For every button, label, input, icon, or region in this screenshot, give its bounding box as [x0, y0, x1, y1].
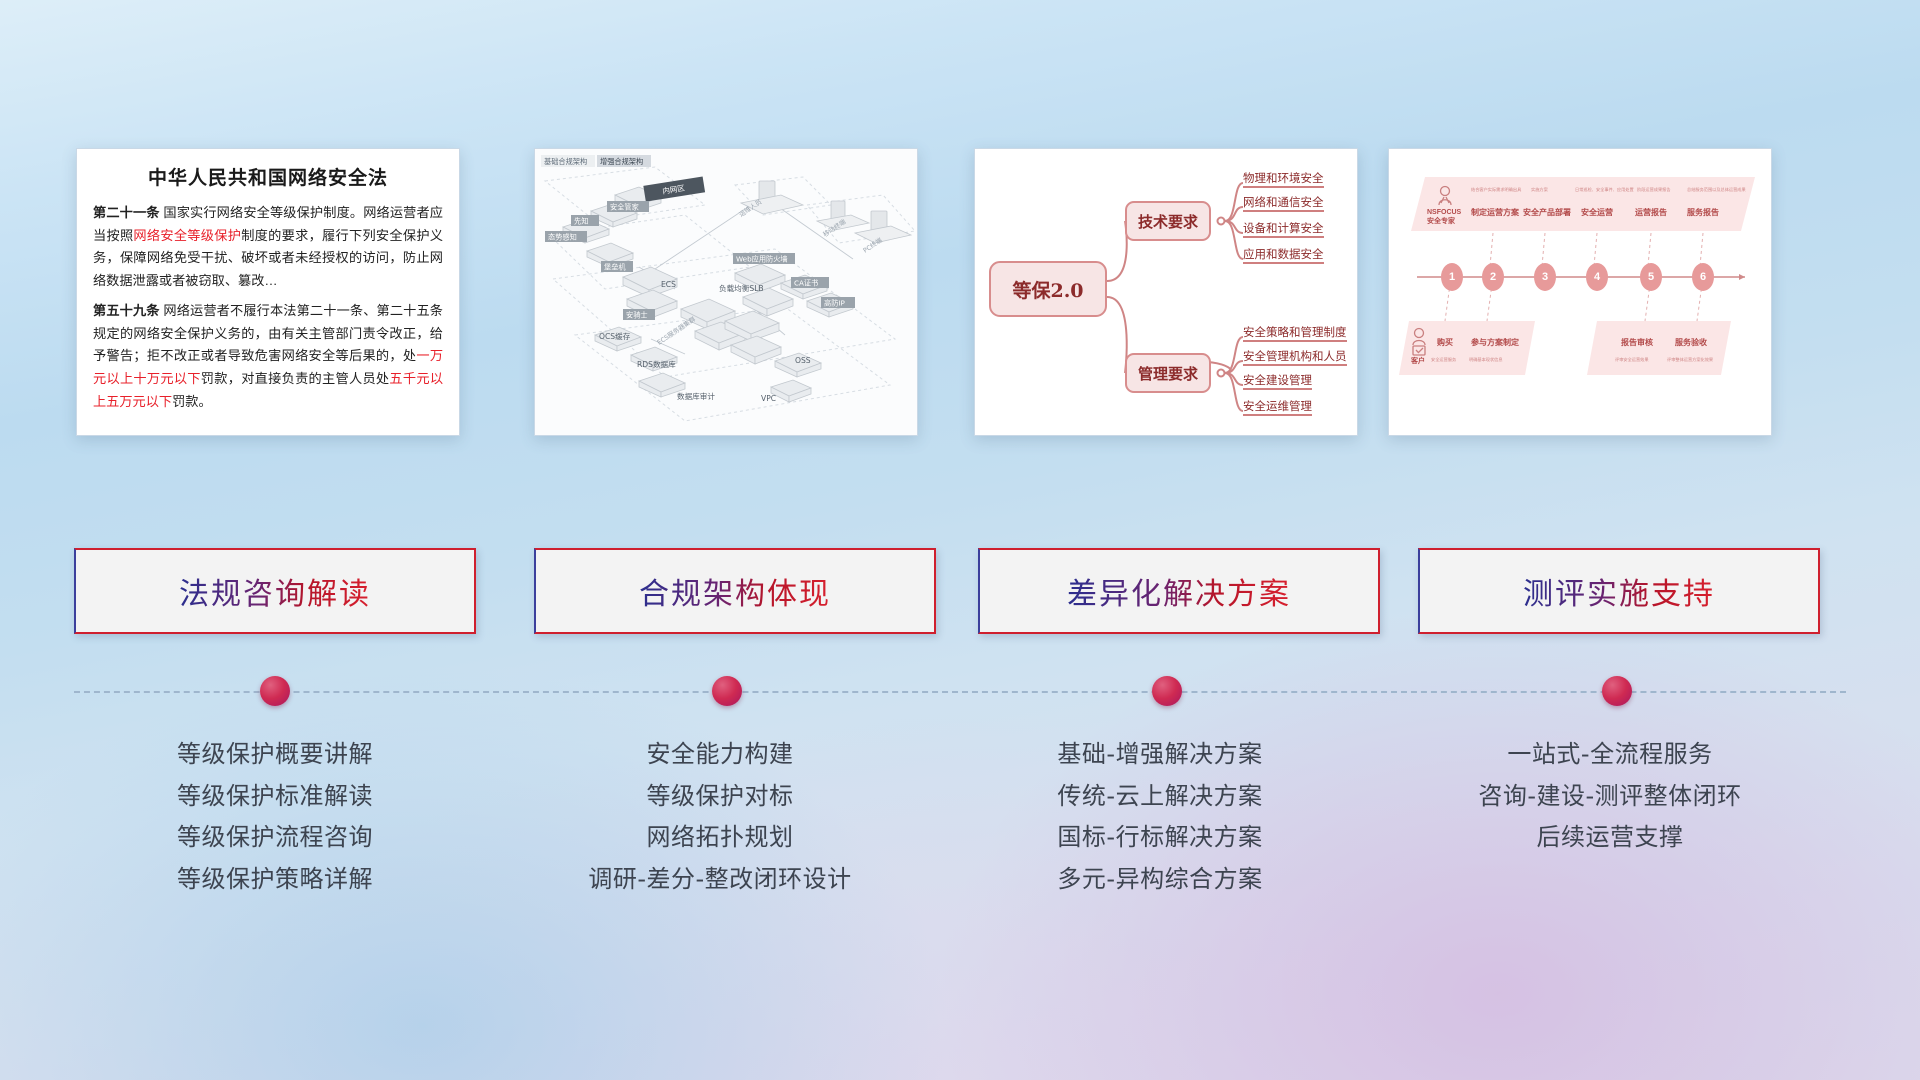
headline-box-4[interactable]: 测评实施支持	[1418, 548, 1820, 634]
nsfocus-top-title-2[interactable]: 安全产品部署	[1523, 207, 1571, 218]
detail-column-2: 安全能力构建 等级保护对标 网络拓扑规划 调研-差分-整改闭环设计	[505, 734, 935, 900]
nsfocus-step-number-5[interactable]: 5	[1640, 263, 1662, 291]
headline-label-4: 测评实施支持	[1523, 569, 1715, 613]
headline-label-2: 合规架构体现	[639, 569, 831, 613]
nsfocus-top-sub-4: 阶段运营成果报告	[1637, 187, 1671, 193]
mindmap: 等保2.0 技术要求 管理要求 物理和环境安全 网络和通信安全 设备和计算安全 …	[975, 149, 1357, 435]
mindmap-leaf-tech-3[interactable]: 设备和计算安全	[1243, 221, 1324, 238]
card-mindmap-dengbao[interactable]: 等保2.0 技术要求 管理要求 物理和环境安全 网络和通信安全 设备和计算安全 …	[974, 148, 1358, 436]
svg-text:先知: 先知	[574, 217, 588, 226]
svg-text:高防IP: 高防IP	[824, 299, 845, 308]
detail-column-3: 基础-增强解决方案 传统-云上解决方案 国标-行标解决方案 多元-异构综合方案	[945, 734, 1375, 900]
nsfocus-step-number-2[interactable]: 2	[1482, 263, 1504, 291]
list-item: 等级保护策略详解	[60, 859, 490, 901]
list-item: 调研-差分-整改闭环设计	[505, 859, 935, 901]
nsfocus-step-number-4[interactable]: 4	[1586, 263, 1608, 291]
arch-label-ecs: ECS	[661, 280, 676, 289]
list-item: 等级保护标准解读	[60, 776, 490, 818]
svg-text:堡垒机: 堡垒机	[604, 263, 626, 272]
svg-text:CA证书: CA证书	[794, 279, 818, 288]
nsfocus-top-title-3[interactable]: 安全运营	[1581, 207, 1613, 218]
list-item: 国标-行标解决方案	[945, 817, 1375, 859]
law-article-21: 第二十一条 国家实行网络安全等级保护制度。网络运营者应当按照网络安全等级保护制度…	[93, 202, 443, 293]
svg-text:安骑士: 安骑士	[626, 311, 648, 320]
headline-row: 法规咨询解读 合规架构体现 差异化解决方案 测评实施支持	[0, 548, 1920, 640]
article-59-label: 第五十九条	[93, 303, 160, 318]
article-59-text-b: 罚款，对直接负责的主管人员处	[201, 371, 390, 386]
list-item: 网络拓扑规划	[505, 817, 935, 859]
list-item: 一站式-全流程服务	[1395, 734, 1825, 776]
list-item: 后续运营支撑	[1395, 817, 1825, 859]
nsfocus-top-sub-1: 结合客户实际需求明确出具	[1471, 187, 1521, 193]
law-title: 中华人民共和国网络安全法	[93, 163, 443, 190]
mindmap-leaf-mgmt-1[interactable]: 安全策略和管理制度	[1243, 325, 1347, 342]
arch-tab-enhanced: 增强合规架构	[600, 157, 643, 166]
card-cybersecurity-law[interactable]: 中华人民共和国网络安全法 第二十一条 国家实行网络安全等级保护制度。网络运营者应…	[76, 148, 460, 436]
law-body: 中华人民共和国网络安全法 第二十一条 国家实行网络安全等级保护制度。网络运营者应…	[77, 149, 459, 435]
svg-text:VPC: VPC	[761, 394, 776, 403]
mindmap-leaf-mgmt-2[interactable]: 安全管理机构和人员	[1243, 349, 1347, 366]
mindmap-leaf-tech-2[interactable]: 网络和通信安全	[1243, 195, 1324, 212]
svg-text:态势感知: 态势感知	[548, 233, 577, 242]
nsfocus-bottom-title-3[interactable]: 报告审核	[1621, 337, 1653, 348]
image-card-row: 中华人民共和国网络安全法 第二十一条 国家实行网络安全等级保护制度。网络运营者应…	[0, 148, 1920, 448]
nsfocus-top-title-5[interactable]: 服务报告	[1687, 207, 1719, 218]
nsfocus-top-sub-3: 日常巡检、安全事件、应用处置	[1575, 187, 1634, 193]
nsfocus-top-sub-5: 总结服务范围以及总体运营成果	[1687, 187, 1746, 193]
nsfocus-bottom-title-4[interactable]: 服务验收	[1675, 337, 1707, 348]
nsfocus-bottom-sub-4: 评审整体运营方案化效果	[1667, 357, 1713, 363]
list-item: 等级保护对标	[505, 776, 935, 818]
article-21-highlight: 网络安全等级保护	[133, 228, 241, 243]
nsfocus-step-number-1[interactable]: 1	[1441, 263, 1463, 291]
detail-column-4: 一站式-全流程服务 咨询-建设-测评整体闭环 后续运营支撑	[1395, 734, 1825, 859]
list-item: 安全能力构建	[505, 734, 935, 776]
architecture-svg: 基础合规架构 增强合规架构 内网区 安全管家 先知 态势感知 堡垒机 安骑	[535, 149, 918, 436]
nsfocus-top-band	[1411, 177, 1755, 231]
svg-text:安全管家: 安全管家	[610, 203, 639, 212]
timeline-node-2[interactable]	[712, 676, 742, 706]
card-cloud-architecture[interactable]: 基础合规架构 增强合规架构 内网区 安全管家 先知 态势感知 堡垒机 安骑	[534, 148, 918, 436]
timeline	[0, 662, 1920, 722]
arch-tab-basic: 基础合规架构	[544, 157, 587, 166]
mindmap-leaf-mgmt-4[interactable]: 安全运维管理	[1243, 399, 1312, 416]
headline-box-1[interactable]: 法规咨询解读	[74, 548, 476, 634]
svg-text:OCS缓存: OCS缓存	[599, 331, 631, 341]
list-item: 等级保护概要讲解	[60, 734, 490, 776]
nsfocus-bottom-sub-2: 明确基本现状信息	[1469, 357, 1503, 363]
headline-box-3[interactable]: 差异化解决方案	[978, 548, 1380, 634]
list-item: 传统-云上解决方案	[945, 776, 1375, 818]
mindmap-leaf-tech-1[interactable]: 物理和环境安全	[1243, 171, 1324, 188]
timeline-node-3[interactable]	[1152, 676, 1182, 706]
nsfocus-top-title-1[interactable]: 制定运营方案	[1471, 207, 1519, 218]
headline-label-1: 法规咨询解读	[179, 569, 371, 613]
nsfocus-top-sub-2: 实施方案	[1531, 187, 1548, 193]
detail-column-row: 等级保护概要讲解 等级保护标准解读 等级保护流程咨询 等级保护策略详解 安全能力…	[0, 734, 1920, 974]
nsfocus-step-number-3[interactable]: 3	[1534, 263, 1556, 291]
timeline-dashed-line	[74, 691, 1846, 693]
list-item: 咨询-建设-测评整体闭环	[1395, 776, 1825, 818]
nsfocus-role-expert: NSFOCUS安全专家	[1427, 209, 1461, 226]
nsfocus-bottom-title-2[interactable]: 参与方案制定	[1471, 337, 1519, 348]
article-59-text-c: 罚款。	[172, 394, 212, 409]
headline-label-3: 差异化解决方案	[1067, 569, 1291, 613]
article-21-label: 第二十一条	[93, 205, 160, 220]
svg-text:Web应用防火墙: Web应用防火墙	[736, 255, 788, 264]
architecture-diagram: 基础合规架构 增强合规架构 内网区 安全管家 先知 态势感知 堡垒机 安骑	[535, 149, 917, 435]
card-nsfocus-service-flow[interactable]: 1 2 3 4 5 6 NSFOCUS安全专家 结合客户实际需求明确出具 制定运…	[1388, 148, 1772, 436]
nsfocus-flow: 1 2 3 4 5 6 NSFOCUS安全专家 结合客户实际需求明确出具 制定运…	[1389, 149, 1771, 435]
timeline-node-1[interactable]	[260, 676, 290, 706]
slide-canvas: 中华人民共和国网络安全法 第二十一条 国家实行网络安全等级保护制度。网络运营者应…	[0, 0, 1920, 1080]
mindmap-leaf-mgmt-3[interactable]: 安全建设管理	[1243, 373, 1312, 390]
mindmap-root[interactable]: 等保2.0	[989, 261, 1107, 317]
svg-text:OSS: OSS	[795, 356, 811, 365]
nsfocus-step-number-6[interactable]: 6	[1692, 263, 1714, 291]
list-item: 多元-异构综合方案	[945, 859, 1375, 901]
svg-text:数据库审计: 数据库审计	[677, 391, 715, 401]
mindmap-branch-technical[interactable]: 技术要求	[1125, 201, 1211, 241]
svg-text:负载均衡SLB: 负载均衡SLB	[719, 283, 764, 293]
svg-text:RDS数据库: RDS数据库	[637, 359, 676, 369]
nsfocus-bottom-sub-1: 安全运营服务	[1431, 357, 1456, 363]
nsfocus-bottom-title-1[interactable]: 购买	[1437, 337, 1453, 348]
nsfocus-top-title-4[interactable]: 运营报告	[1635, 207, 1667, 218]
headline-box-2[interactable]: 合规架构体现	[534, 548, 936, 634]
timeline-node-4[interactable]	[1602, 676, 1632, 706]
list-item: 等级保护流程咨询	[60, 817, 490, 859]
mindmap-leaf-tech-4[interactable]: 应用和数据安全	[1243, 247, 1324, 264]
nsfocus-role-customer: 客户	[1411, 356, 1425, 366]
mindmap-branch-management[interactable]: 管理要求	[1125, 353, 1211, 393]
nsfocus-bottom-sub-3: 评审安全运营效果	[1615, 357, 1649, 363]
law-article-59: 第五十九条 网络运营者不履行本法第二十一条、第二十五条规定的网络安全保护义务的，…	[93, 300, 443, 414]
nsfocus-bottom-band-right	[1587, 321, 1731, 375]
detail-column-1: 等级保护概要讲解 等级保护标准解读 等级保护流程咨询 等级保护策略详解	[60, 734, 490, 900]
list-item: 基础-增强解决方案	[945, 734, 1375, 776]
